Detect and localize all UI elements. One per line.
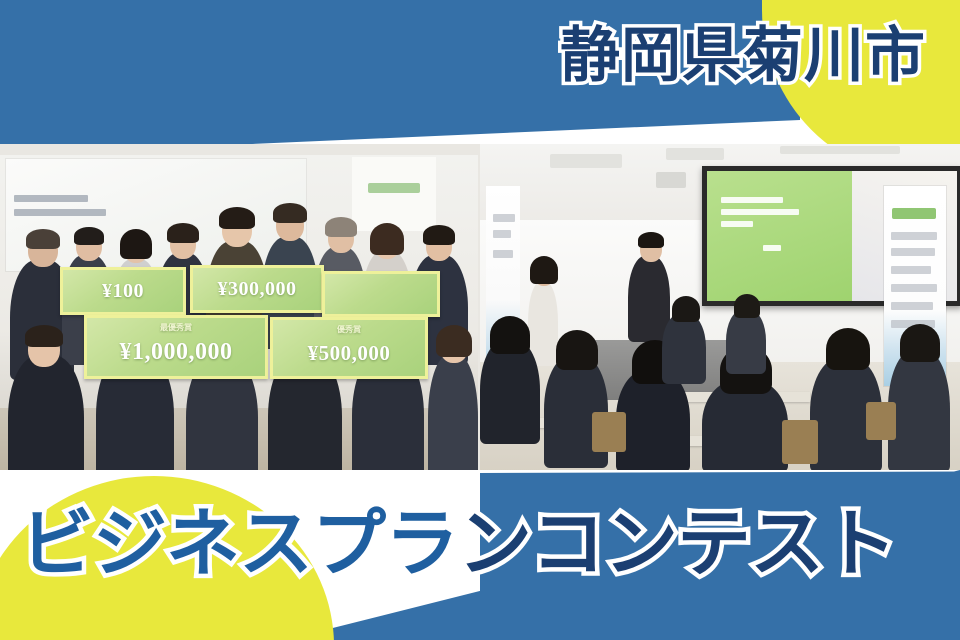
sponsor-banner-row [891, 232, 937, 240]
sponsor-banner-row [891, 284, 937, 292]
chair [592, 412, 626, 452]
photo-left-person-hair [167, 223, 199, 243]
standing-attendee-hair [530, 256, 558, 284]
kikugawa-logo-icon [892, 208, 936, 219]
prize-check [322, 271, 440, 317]
photo-left-person-hair [25, 325, 63, 347]
photo-left-screen-text-line-1 [14, 195, 88, 202]
photo-left-person-hair [74, 227, 104, 245]
slide-title-line-1 [721, 197, 783, 203]
photo-left-person-hair [423, 225, 455, 245]
audience-member-hair [826, 328, 870, 370]
audience-member-hair [490, 316, 530, 354]
slide-title-line-3 [721, 221, 753, 227]
audience-member-hair [734, 294, 760, 318]
photo-strip: ¥100 ¥300,000 [0, 144, 960, 472]
photo-left-person-hair [219, 207, 255, 229]
photo-left-person-hair [325, 217, 357, 237]
bottom-band: ビジネスプランコンテスト [0, 470, 960, 640]
photo-left-person-front [8, 355, 84, 472]
photo-right-ceiling-panel [780, 146, 900, 154]
sponsor-banner-row [493, 250, 513, 258]
page-title-contest-part2: ンコンテスト [458, 501, 896, 587]
prize-check-caption: 優秀賞 [273, 324, 425, 335]
presenter-hair [638, 232, 664, 248]
audience-member [888, 350, 950, 472]
projector-icon [656, 172, 686, 188]
photo-left-person-hair [120, 229, 152, 259]
sponsor-banner-row [891, 248, 935, 256]
photo-right-ceiling-panel [550, 154, 622, 168]
audience-member-hair [672, 296, 700, 322]
prize-check: ¥300,000 [190, 265, 324, 313]
photo-award-ceremony: ¥100 ¥300,000 [0, 155, 478, 472]
prize-check: ¥100 [60, 267, 186, 315]
sponsor-banner-row [891, 302, 933, 310]
chair [866, 402, 896, 440]
top-band: 静岡県菊川市 [0, 0, 960, 160]
photo-seminar-room [480, 144, 960, 472]
prize-check-amount: ¥1,000,000 [120, 339, 233, 366]
photo-left-person-front [428, 355, 478, 472]
photo-left-person-hair [436, 325, 472, 357]
page-title-contest: ビジネスプランコンテスト [20, 507, 896, 581]
slide-green-panel [707, 171, 852, 301]
prize-check-second: 優秀賞 ¥500,000 [270, 317, 428, 379]
prize-check-amount: ¥300,000 [218, 278, 297, 301]
prize-check-amount: ¥100 [102, 280, 144, 303]
audience-member-hair [556, 330, 598, 370]
photo-right-ceiling-panel [666, 148, 724, 160]
audience-member [662, 314, 706, 384]
prize-check-caption: 最優秀賞 [87, 322, 265, 333]
audience-member [480, 340, 540, 444]
audience-member [616, 370, 690, 472]
chair [782, 420, 818, 464]
page-title-contest-part1: ビジネスプラ [20, 501, 458, 587]
slide-title-line-2 [721, 209, 799, 215]
prize-check-grand: 最優秀賞 ¥1,000,000 [84, 315, 268, 379]
audience-member [726, 310, 766, 374]
photo-left-person-hair [273, 203, 307, 223]
slide-subtitle-line [763, 245, 781, 251]
sponsor-banner-row [891, 266, 931, 274]
poster-root: 静岡県菊川市 [0, 0, 960, 640]
audience-member-hair [900, 324, 940, 362]
photo-left-side-board [352, 157, 436, 231]
prize-check-amount: ¥500,000 [308, 341, 391, 366]
photo-left-person-hair [26, 229, 60, 249]
sponsor-banner-row [493, 230, 511, 238]
photo-left-board-logo [368, 183, 420, 193]
sponsor-banner-row [493, 214, 515, 222]
photo-left-screen-text-line-2 [14, 209, 106, 216]
page-title-prefecture-city: 静岡県菊川市 [560, 26, 926, 86]
photo-left-person-hair [370, 223, 404, 255]
